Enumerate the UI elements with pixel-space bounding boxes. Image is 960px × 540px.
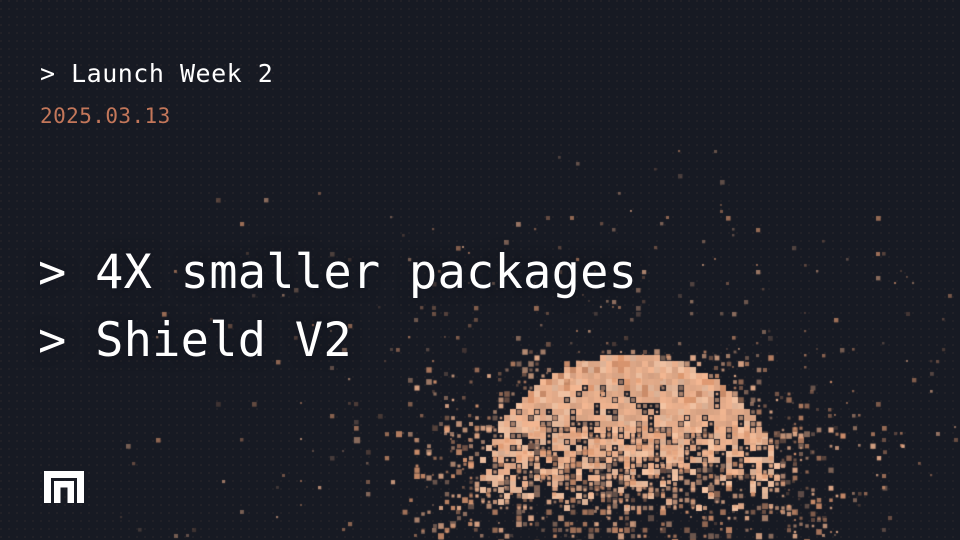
headline-block: > 4X smaller packages > Shield V2 — [38, 239, 637, 375]
arch-gate-logo — [44, 471, 84, 503]
launch-announcement-slide: > Launch Week 2 2025.03.13 > 4X smaller … — [0, 0, 960, 540]
date-stamp: 2025.03.13 — [40, 105, 171, 128]
headline-line-1: > 4X smaller packages — [38, 239, 637, 307]
headline-line-2: > Shield V2 — [38, 307, 637, 375]
text-layer: > Launch Week 2 2025.03.13 > 4X smaller … — [0, 0, 960, 540]
kicker-label: > Launch Week 2 — [40, 60, 273, 88]
